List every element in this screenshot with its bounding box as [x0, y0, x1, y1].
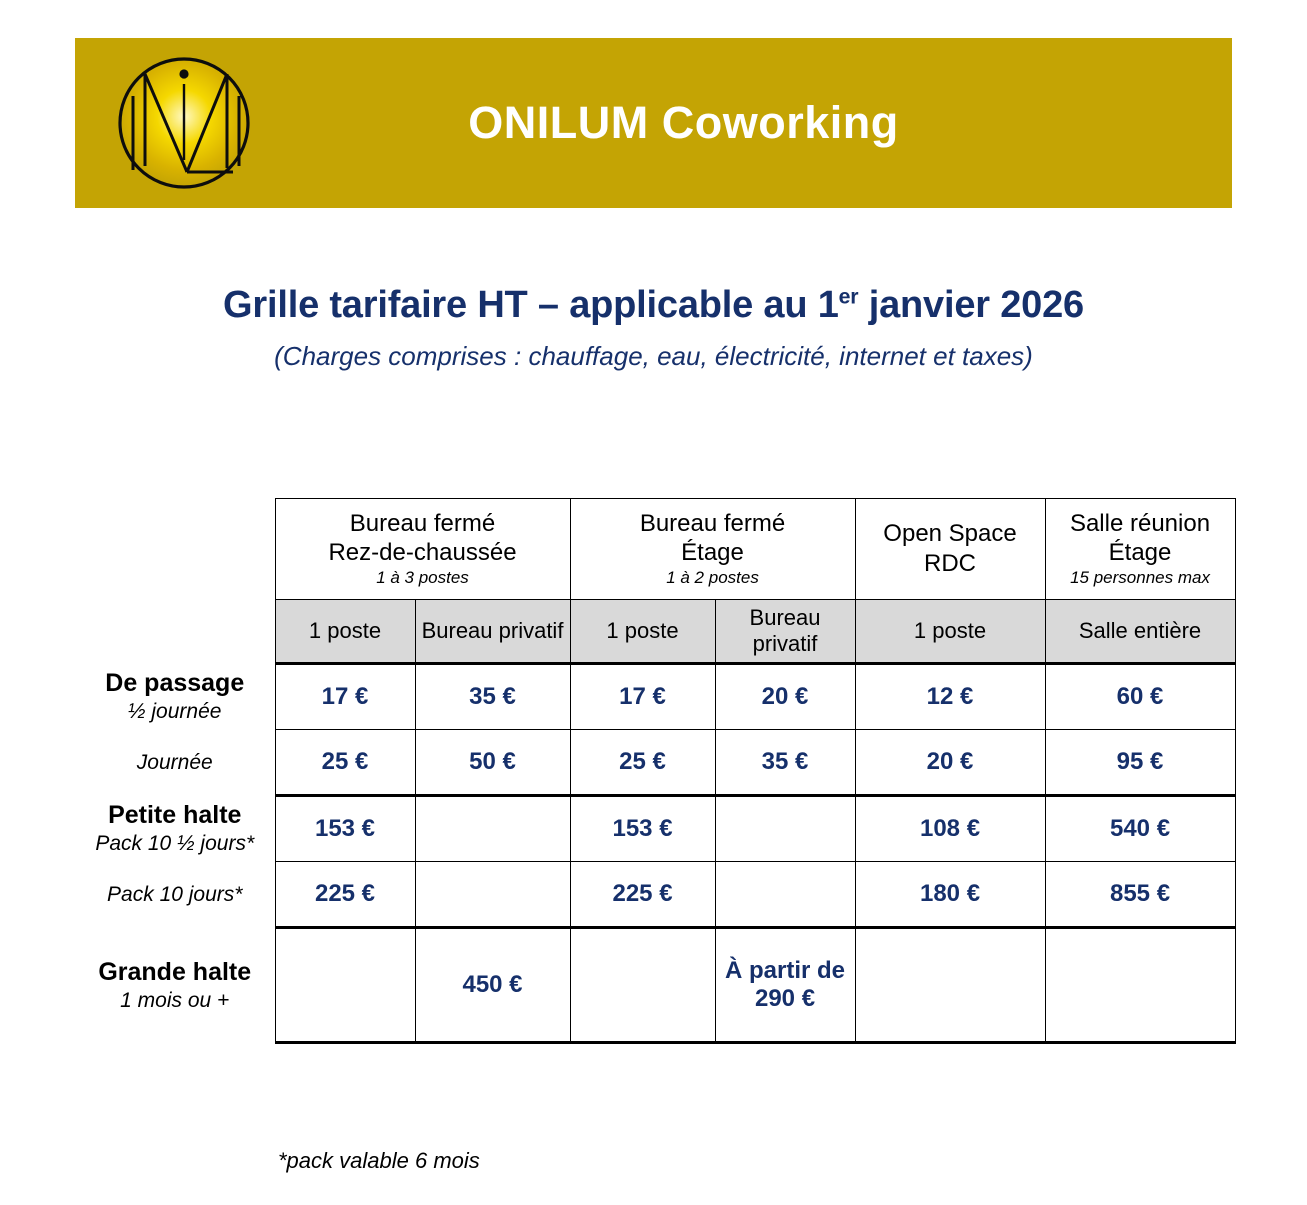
- price-value: 20 €: [762, 683, 809, 710]
- price-value: 20 €: [927, 748, 974, 775]
- section-title: De passage: [75, 669, 275, 700]
- sub-header-bureau-privatif-etage: Bureau privatif: [715, 600, 855, 664]
- price-cell: 17 €: [570, 664, 715, 730]
- price-cell-empty: [715, 862, 855, 928]
- sub-header-bureau-privatif-rdc: Bureau privatif: [415, 600, 570, 664]
- row-label: ½ journée: [75, 700, 275, 724]
- price-cell: 450 €: [415, 928, 570, 1043]
- price-value: 12 €: [927, 683, 974, 710]
- table-row: Grande halte 1 mois ou + 450 € À partir …: [75, 928, 1235, 1043]
- price-cell-empty: [1045, 928, 1235, 1043]
- price-cell: 50 €: [415, 730, 570, 796]
- section-title-petite-halte-cell: Petite halte Pack 10 ½ jours*: [75, 796, 275, 862]
- price-cell-empty: [415, 796, 570, 862]
- page-title-ordinal: er: [839, 284, 859, 308]
- price-cell: 20 €: [715, 664, 855, 730]
- price-value: 60 €: [1117, 683, 1164, 710]
- price-cell-empty: [715, 796, 855, 862]
- price-cell: 108 €: [855, 796, 1045, 862]
- group-header-line1: Bureau fermé: [350, 510, 495, 537]
- row-label-cell: Pack 10 jours*: [75, 862, 275, 928]
- price-value: 108 €: [920, 815, 980, 842]
- row-label: Journée: [75, 751, 275, 775]
- row-label: Pack 10 jours*: [75, 883, 275, 907]
- page-title-part1: Grille tarifaire HT – applicable au 1: [223, 284, 839, 326]
- price-value: 25 €: [619, 748, 666, 775]
- price-cell-empty: [415, 862, 570, 928]
- price-cell: 225 €: [570, 862, 715, 928]
- table-row: Journée 25 € 50 € 25 € 35 € 20 € 95 €: [75, 730, 1235, 796]
- price-cell: 225 €: [275, 862, 415, 928]
- price-value: 35 €: [469, 683, 516, 710]
- price-value: 225 €: [612, 880, 672, 907]
- price-cell: 12 €: [855, 664, 1045, 730]
- banner-title: ONILUM Coworking: [75, 97, 1232, 149]
- price-value: 95 €: [1117, 748, 1164, 775]
- price-value: 17 €: [619, 683, 666, 710]
- group-header-line1: Bureau fermé: [640, 510, 785, 537]
- price-cell: 25 €: [275, 730, 415, 796]
- price-cell: 855 €: [1045, 862, 1235, 928]
- price-prefix: À partir de: [725, 957, 845, 984]
- sub-header-1-poste-rdc: 1 poste: [275, 600, 415, 664]
- corner-spacer-2: [75, 600, 275, 664]
- section-title: Grande halte: [75, 958, 275, 989]
- group-header-line2: Rez-de-chaussée: [328, 539, 516, 566]
- price-cell: 540 €: [1045, 796, 1235, 862]
- price-value: 25 €: [322, 748, 369, 775]
- price-value: 50 €: [469, 748, 516, 775]
- pricing-table: Bureau fermé Rez-de-chaussée 1 à 3 poste…: [75, 498, 1236, 1044]
- price-cell: 17 €: [275, 664, 415, 730]
- table-group-header-row: Bureau fermé Rez-de-chaussée 1 à 3 poste…: [75, 499, 1235, 600]
- group-header-line1: Open Space: [883, 520, 1016, 547]
- price-value: 540 €: [1110, 815, 1170, 842]
- price-cell: 95 €: [1045, 730, 1235, 796]
- footnote: *pack valable 6 mois: [278, 1148, 480, 1174]
- group-header-bureau-ferme-etage: Bureau fermé Étage 1 à 2 postes: [570, 499, 855, 600]
- price-value: 855 €: [1110, 880, 1170, 907]
- group-header-note: 15 personnes max: [1046, 568, 1235, 589]
- price-cell: 25 €: [570, 730, 715, 796]
- corner-spacer: [75, 499, 275, 600]
- price-value: 290 €: [755, 985, 815, 1012]
- price-cell: 153 €: [570, 796, 715, 862]
- group-header-note: 1 à 2 postes: [571, 568, 855, 589]
- group-header-line2: RDC: [924, 550, 976, 577]
- price-cell: 35 €: [715, 730, 855, 796]
- price-cell: 180 €: [855, 862, 1045, 928]
- section-title-de-passage-cell: De passage ½ journée: [75, 664, 275, 730]
- page-title: Grille tarifaire HT – applicable au 1er …: [0, 284, 1307, 327]
- sub-header-1-poste-openspace: 1 poste: [855, 600, 1045, 664]
- group-header-line2: Étage: [681, 539, 744, 566]
- pricing-table-container: Bureau fermé Rez-de-chaussée 1 à 3 poste…: [75, 498, 1235, 1044]
- price-cell-empty: [570, 928, 715, 1043]
- price-cell-empty: [855, 928, 1045, 1043]
- header-banner: ONILUM Coworking: [75, 38, 1232, 208]
- price-value: 180 €: [920, 880, 980, 907]
- group-header-salle-reunion-etage: Salle réunion Étage 15 personnes max: [1045, 499, 1235, 600]
- price-cell: 20 €: [855, 730, 1045, 796]
- table-sub-header-row: 1 poste Bureau privatif 1 poste Bureau p…: [75, 600, 1235, 664]
- price-value: 153 €: [315, 815, 375, 842]
- section-title-grande-halte-cell: Grande halte 1 mois ou +: [75, 928, 275, 1043]
- price-value: 153 €: [612, 815, 672, 842]
- price-value: 450 €: [462, 971, 522, 998]
- row-label: 1 mois ou +: [75, 989, 275, 1013]
- row-label-cell: Journée: [75, 730, 275, 796]
- price-value: 35 €: [762, 748, 809, 775]
- table-row: De passage ½ journée 17 € 35 € 17 € 20 €…: [75, 664, 1235, 730]
- price-cell: 60 €: [1045, 664, 1235, 730]
- group-header-bureau-ferme-rdc: Bureau fermé Rez-de-chaussée 1 à 3 poste…: [275, 499, 570, 600]
- page-subtitle: (Charges comprises : chauffage, eau, éle…: [0, 341, 1307, 372]
- price-value: 225 €: [315, 880, 375, 907]
- group-header-line2: Étage: [1109, 539, 1172, 566]
- price-cell: 153 €: [275, 796, 415, 862]
- price-cell-empty: [275, 928, 415, 1043]
- group-header-note: 1 à 3 postes: [276, 568, 570, 589]
- table-row: Petite halte Pack 10 ½ jours* 153 € 153 …: [75, 796, 1235, 862]
- sub-header-1-poste-etage: 1 poste: [570, 600, 715, 664]
- price-cell: À partir de 290 €: [715, 928, 855, 1043]
- price-value: 17 €: [322, 683, 369, 710]
- price-cell: 35 €: [415, 664, 570, 730]
- page-title-part2: janvier 2026: [858, 284, 1084, 326]
- page-heading-block: Grille tarifaire HT – applicable au 1er …: [0, 284, 1307, 372]
- group-header-line1: Salle réunion: [1070, 510, 1210, 537]
- row-label: Pack 10 ½ jours*: [75, 832, 275, 856]
- section-title: Petite halte: [75, 801, 275, 832]
- group-header-open-space-rdc: Open Space RDC: [855, 499, 1045, 600]
- table-row: Pack 10 jours* 225 € 225 € 180 € 855 €: [75, 862, 1235, 928]
- sub-header-salle-entiere: Salle entière: [1045, 600, 1235, 664]
